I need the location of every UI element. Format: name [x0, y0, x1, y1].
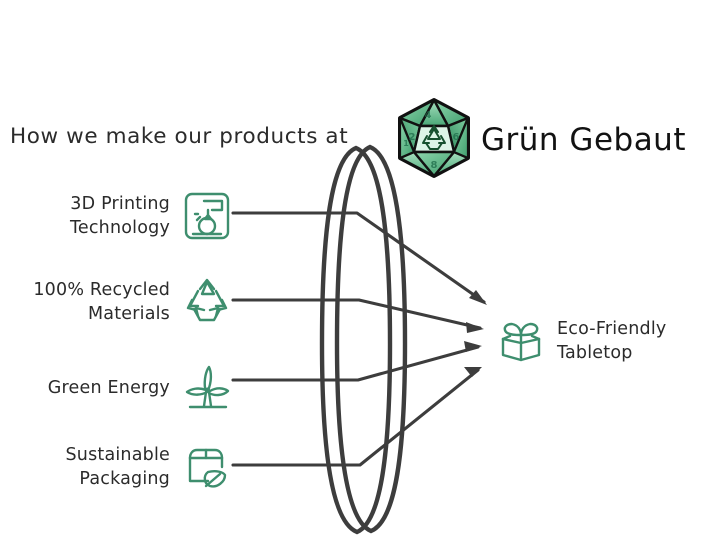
input-label-2: Green Energy	[48, 376, 170, 400]
d20-dice-recycling-icon: 4 2 6 8 1	[390, 96, 478, 180]
brand-name: Grün Gebaut	[481, 122, 686, 158]
arrowheads	[464, 290, 487, 377]
header: How we make our products at	[0, 48, 703, 140]
center-lens-disc	[322, 147, 405, 532]
sprouting-box-icon	[497, 317, 545, 365]
svg-text:2: 2	[409, 132, 416, 143]
output-group[interactable]: Eco-Friendly Tabletop	[497, 312, 697, 370]
connector-line-0	[233, 213, 484, 302]
3d-printer-icon	[182, 190, 232, 242]
input-row-3d-printing[interactable]: 3D Printing Technology	[0, 186, 232, 246]
connector-line-3	[233, 370, 478, 465]
arrowhead-2	[464, 341, 482, 352]
connector-line-1	[233, 300, 480, 328]
arrowhead-3	[464, 367, 482, 377]
recycling-icon	[182, 276, 232, 328]
input-label-3: Sustainable Packaging	[65, 443, 170, 491]
input-row-green-energy[interactable]: Green Energy	[0, 358, 232, 418]
infographic-canvas: How we make our products at	[0, 0, 703, 556]
connector-line-2	[233, 347, 478, 380]
output-label: Eco-Friendly Tabletop	[557, 317, 666, 365]
svg-text:8: 8	[431, 160, 438, 171]
wind-turbine-icon	[182, 362, 232, 414]
svg-text:4: 4	[425, 110, 432, 121]
svg-text:6: 6	[453, 132, 460, 143]
input-label-1: 100% Recycled Materials	[33, 278, 170, 326]
svg-text:1: 1	[403, 139, 409, 148]
page-title: How we make our products at	[10, 124, 348, 149]
input-row-recycled-materials[interactable]: 100% Recycled Materials	[0, 272, 232, 332]
input-label-0: 3D Printing Technology	[70, 192, 170, 240]
package-leaf-icon	[182, 441, 232, 493]
input-row-sustainable-packaging[interactable]: Sustainable Packaging	[0, 437, 232, 497]
arrowhead-1	[466, 322, 484, 333]
arrowhead-0	[469, 290, 487, 305]
